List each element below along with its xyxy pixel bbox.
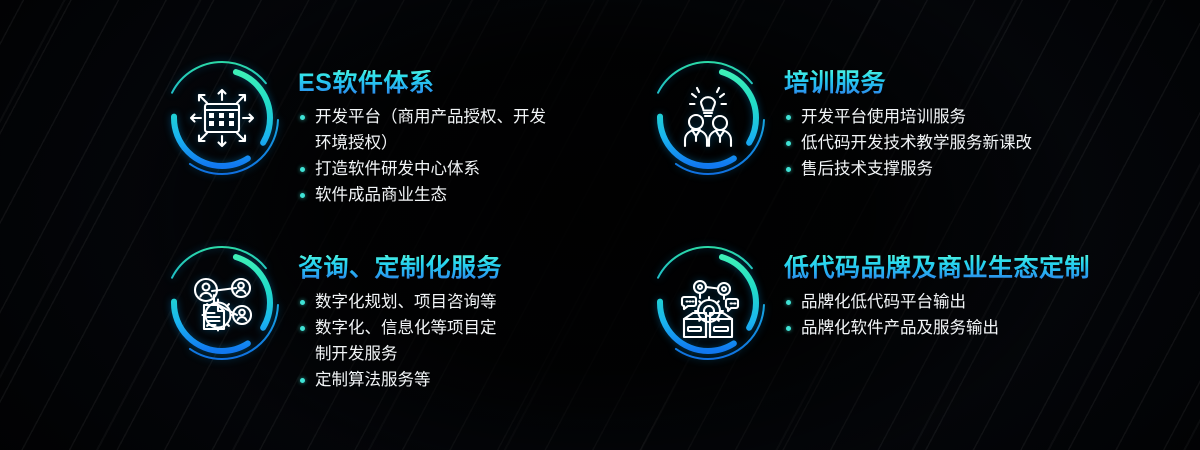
card-consulting-customization[interactable]: 咨询、定制化服务 数字化规划、项目咨询等 数字化、信息化等项目定 制开发服务 定… [162,243,596,394]
card-title: 培训服务 [784,70,1032,96]
list-item: 数字化、信息化等项目定 制开发服务 [296,315,596,367]
list-item: 品牌化低代码平台输出 [782,289,1112,315]
ring-frame-lowcode-brand-ecosystem [648,243,768,363]
list-item: 售后技术支撑服务 [782,156,1032,182]
list-item: 软件成品商业生态 [296,182,596,208]
people-network-document-icon [162,243,282,363]
card-lowcode-brand-ecosystem[interactable]: 低代码品牌及商业生态定制 品牌化低代码平台输出 品牌化软件产品及服务输出 [648,243,1112,363]
card-bullet-list: 开发平台（商用产品授权、开发 环境授权） 打造软件研发中心体系 软件成品商业生态 [296,104,596,208]
card-training-service[interactable]: 培训服务 开发平台使用培训服务 低代码开发技术教学服务新课改 售后技术支撑服务 [648,58,1032,182]
card-body: 培训服务 开发平台使用培训服务 低代码开发技术教学服务新课改 售后技术支撑服务 [782,58,1032,182]
card-bullet-list: 数字化规划、项目咨询等 数字化、信息化等项目定 制开发服务 定制算法服务等 [296,289,596,393]
card-body: ES软件体系 开发平台（商用产品授权、开发 环境授权） 打造软件研发中心体系 软… [296,58,596,209]
card-body: 低代码品牌及商业生态定制 品牌化低代码平台输出 品牌化软件产品及服务输出 [782,243,1112,341]
card-title: 低代码品牌及商业生态定制 [784,255,1112,281]
list-item: 定制算法服务等 [296,367,596,393]
list-item: 数字化规划、项目咨询等 [296,289,596,315]
card-title: 咨询、定制化服务 [298,255,596,281]
ring-frame-consulting-customization [162,243,282,363]
card-bullet-list: 品牌化低代码平台输出 品牌化软件产品及服务输出 [782,289,1112,341]
list-item: 品牌化软件产品及服务输出 [782,315,1112,341]
list-item: 开发平台（商用产品授权、开发 环境授权） [296,104,596,156]
ring-frame-es-software-system [162,58,282,178]
open-box-gear-network-icon [648,243,768,363]
card-es-software-system[interactable]: ES软件体系 开发平台（商用产品授权、开发 环境授权） 打造软件研发中心体系 软… [162,58,596,209]
card-bullet-list: 开发平台使用培训服务 低代码开发技术教学服务新课改 售后技术支撑服务 [782,104,1032,182]
list-item: 打造软件研发中心体系 [296,156,596,182]
list-item: 低代码开发技术教学服务新课改 [782,130,1032,156]
card-body: 咨询、定制化服务 数字化规划、项目咨询等 数字化、信息化等项目定 制开发服务 定… [296,243,596,394]
slide-canvas: ES软件体系 开发平台（商用产品授权、开发 环境授权） 打造软件研发中心体系 软… [0,0,1200,450]
card-title: ES软件体系 [298,70,596,96]
expand-grid-platform-icon [162,58,282,178]
list-item: 开发平台使用培训服务 [782,104,1032,130]
ring-frame-training-service [648,58,768,178]
lightbulb-people-training-icon [648,58,768,178]
